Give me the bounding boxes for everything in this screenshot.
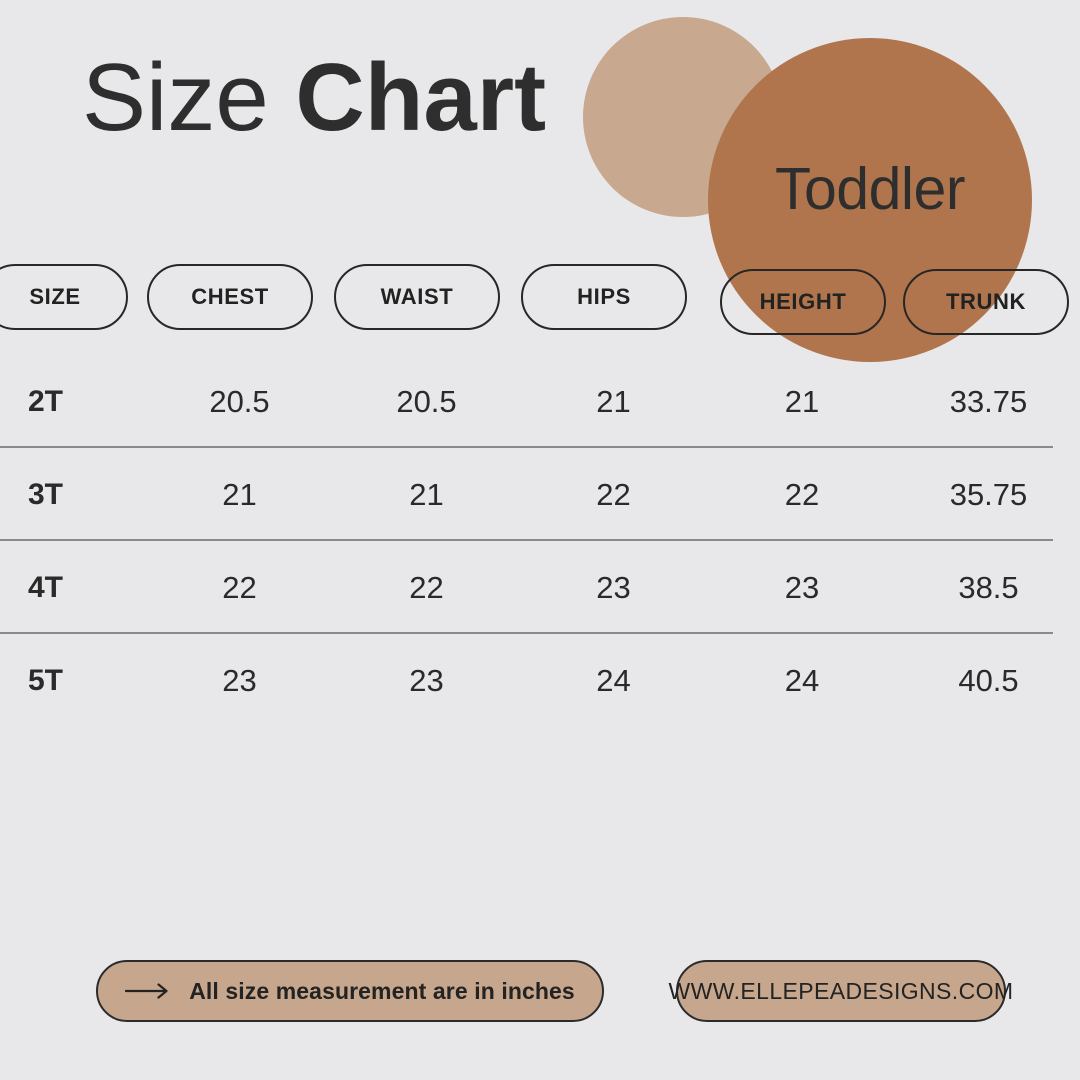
column-header-waist-label: WAIST <box>381 284 454 310</box>
cell-hips: 23 <box>520 570 707 606</box>
cell-size: 5T <box>0 664 146 698</box>
column-header-trunk: TRUNK <box>903 269 1069 335</box>
column-header-chest-label: CHEST <box>191 284 269 310</box>
size-chart-page: Toddler Size Chart SIZE CHEST WAIST HIPS… <box>0 0 1080 1080</box>
cell-hips: 24 <box>520 663 707 699</box>
cell-size: 2T <box>0 385 146 419</box>
column-header-hips: HIPS <box>521 264 687 330</box>
cell-trunk: 33.75 <box>897 384 1080 420</box>
column-header-waist: WAIST <box>334 264 500 330</box>
cell-size: 4T <box>0 571 146 605</box>
column-header-size-label: SIZE <box>29 284 80 310</box>
table-row: 2T 20.5 20.5 21 21 33.75 <box>0 355 1080 448</box>
footer-website-badge[interactable]: WWW.ELLEPEADESIGNS.COM <box>676 960 1006 1022</box>
column-header-hips-label: HIPS <box>577 284 631 310</box>
cell-chest: 21 <box>146 477 333 513</box>
category-label-toddler: Toddler <box>708 160 1032 219</box>
cell-hips: 22 <box>520 477 707 513</box>
footer-website-label: WWW.ELLEPEADESIGNS.COM <box>669 978 1014 1005</box>
table-row: 4T 22 22 23 23 38.5 <box>0 541 1080 634</box>
cell-chest: 22 <box>146 570 333 606</box>
table-row: 3T 21 21 22 22 35.75 <box>0 448 1080 541</box>
cell-trunk: 35.75 <box>897 477 1080 513</box>
arrow-right-icon <box>125 983 171 999</box>
cell-height: 24 <box>707 663 897 699</box>
cell-trunk: 38.5 <box>897 570 1080 606</box>
cell-waist: 23 <box>333 663 520 699</box>
column-header-height-label: HEIGHT <box>760 289 847 315</box>
cell-waist: 21 <box>333 477 520 513</box>
column-header-chest: CHEST <box>147 264 313 330</box>
table-row: 5T 23 23 24 24 40.5 <box>0 634 1080 727</box>
cell-trunk: 40.5 <box>897 663 1080 699</box>
footer-note-badge: All size measurement are in inches <box>96 960 604 1022</box>
page-title-light: Size <box>82 44 295 151</box>
cell-chest: 20.5 <box>146 384 333 420</box>
cell-waist: 22 <box>333 570 520 606</box>
table-header-row: SIZE CHEST WAIST HIPS HEIGHT TRUNK <box>0 264 1080 334</box>
column-header-size: SIZE <box>0 264 128 330</box>
page-title-bold: Chart <box>295 44 546 151</box>
cell-height: 23 <box>707 570 897 606</box>
cell-height: 21 <box>707 384 897 420</box>
cell-waist: 20.5 <box>333 384 520 420</box>
size-table: 2T 20.5 20.5 21 21 33.75 3T 21 21 22 22 … <box>0 355 1080 727</box>
cell-height: 22 <box>707 477 897 513</box>
footer-note-label: All size measurement are in inches <box>189 978 575 1005</box>
cell-chest: 23 <box>146 663 333 699</box>
column-header-height: HEIGHT <box>720 269 886 335</box>
cell-hips: 21 <box>520 384 707 420</box>
page-title: Size Chart <box>82 48 546 149</box>
column-header-trunk-label: TRUNK <box>946 289 1026 315</box>
cell-size: 3T <box>0 478 146 512</box>
